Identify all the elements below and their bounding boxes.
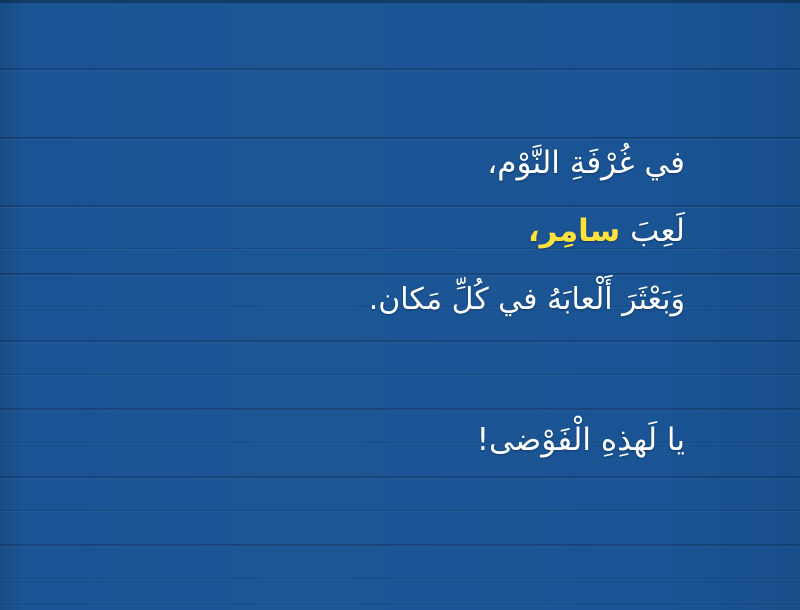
story-line-2: لَعِبَ سامِر، bbox=[40, 216, 685, 247]
reading-page: في غُرْفَةِ النَّوْم، لَعِبَ سامِر، وَبَ… bbox=[0, 0, 800, 610]
story-line-2-character-name: سامِر، bbox=[528, 213, 620, 249]
story-line-3: وَبَعْثَرَ أَلْعابَهُ في كُلِّ مَكان. bbox=[40, 285, 685, 315]
story-line-2-verb: لَعِبَ bbox=[630, 213, 685, 249]
story-line-1: في غُرْفَةِ النَّوْم، bbox=[40, 148, 685, 179]
story-text-block: في غُرْفَةِ النَّوْم، لَعِبَ سامِر، وَبَ… bbox=[0, 0, 800, 610]
story-line-4-exclamation: يا لَهذِهِ الْفَوْضى! bbox=[40, 425, 685, 456]
